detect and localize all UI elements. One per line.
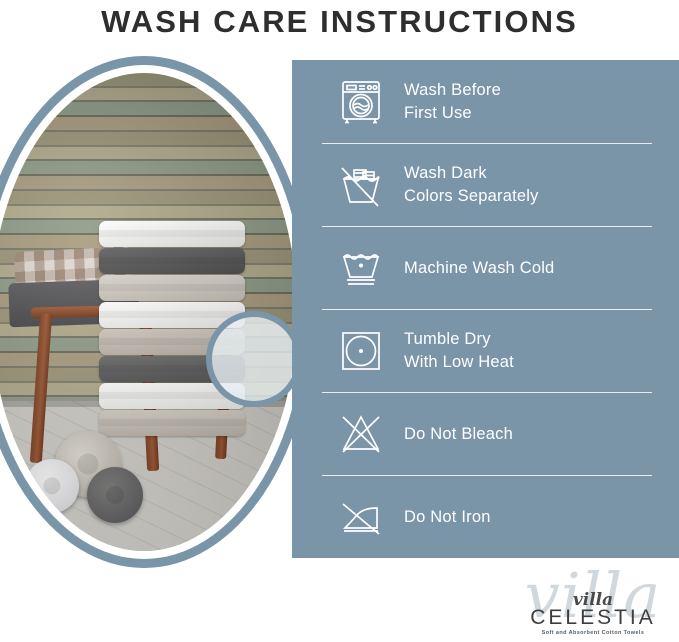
- care-row-do-not-iron: Do Not Iron: [322, 475, 652, 558]
- care-row-wash-dark-colors-separately: Wash Dark Colors Separately: [322, 143, 652, 226]
- infographic-canvas: WASH CARE INSTRUCTIONS: [0, 0, 679, 642]
- care-instructions-list: Wash Before First Use Wash Dark Colors: [322, 60, 652, 558]
- logo-brand-name: CELESTIA: [513, 606, 673, 630]
- care-row-label: Do Not Iron: [400, 506, 491, 529]
- care-row-label: Wash Before First Use: [400, 79, 501, 125]
- do-not-bleach-icon: [322, 393, 400, 476]
- care-row-tumble-dry-low-heat: Tumble Dry With Low Heat: [322, 309, 652, 392]
- do-not-iron-icon: [322, 476, 400, 559]
- machine-wash-cold-icon: [322, 227, 400, 310]
- care-row-do-not-bleach: Do Not Bleach: [322, 392, 652, 475]
- oval-photo-frame: [0, 56, 314, 568]
- care-row-wash-before-first-use: Wash Before First Use: [322, 60, 652, 143]
- tumble-dry-low-heat-icon: [322, 310, 400, 393]
- zoom-circle-overlay: [206, 311, 302, 407]
- care-instructions-panel: Wash Before First Use Wash Dark Colors: [292, 60, 679, 558]
- care-row-machine-wash-cold: Machine Wash Cold: [322, 226, 652, 309]
- washing-machine-icon: [322, 60, 400, 143]
- page-title: WASH CARE INSTRUCTIONS: [0, 0, 679, 44]
- logo-tagline: Soft and Absorbent Cotton Towels: [513, 630, 673, 636]
- wash-dark-colors-separately-icon: [322, 144, 400, 227]
- care-row-label: Machine Wash Cold: [400, 257, 554, 280]
- care-row-label: Wash Dark Colors Separately: [400, 162, 539, 208]
- care-row-label: Tumble Dry With Low Heat: [400, 328, 514, 374]
- brand-logo: villa villa CELESTIA Soft and Absorbent …: [513, 558, 673, 642]
- care-row-label: Do Not Bleach: [400, 423, 513, 446]
